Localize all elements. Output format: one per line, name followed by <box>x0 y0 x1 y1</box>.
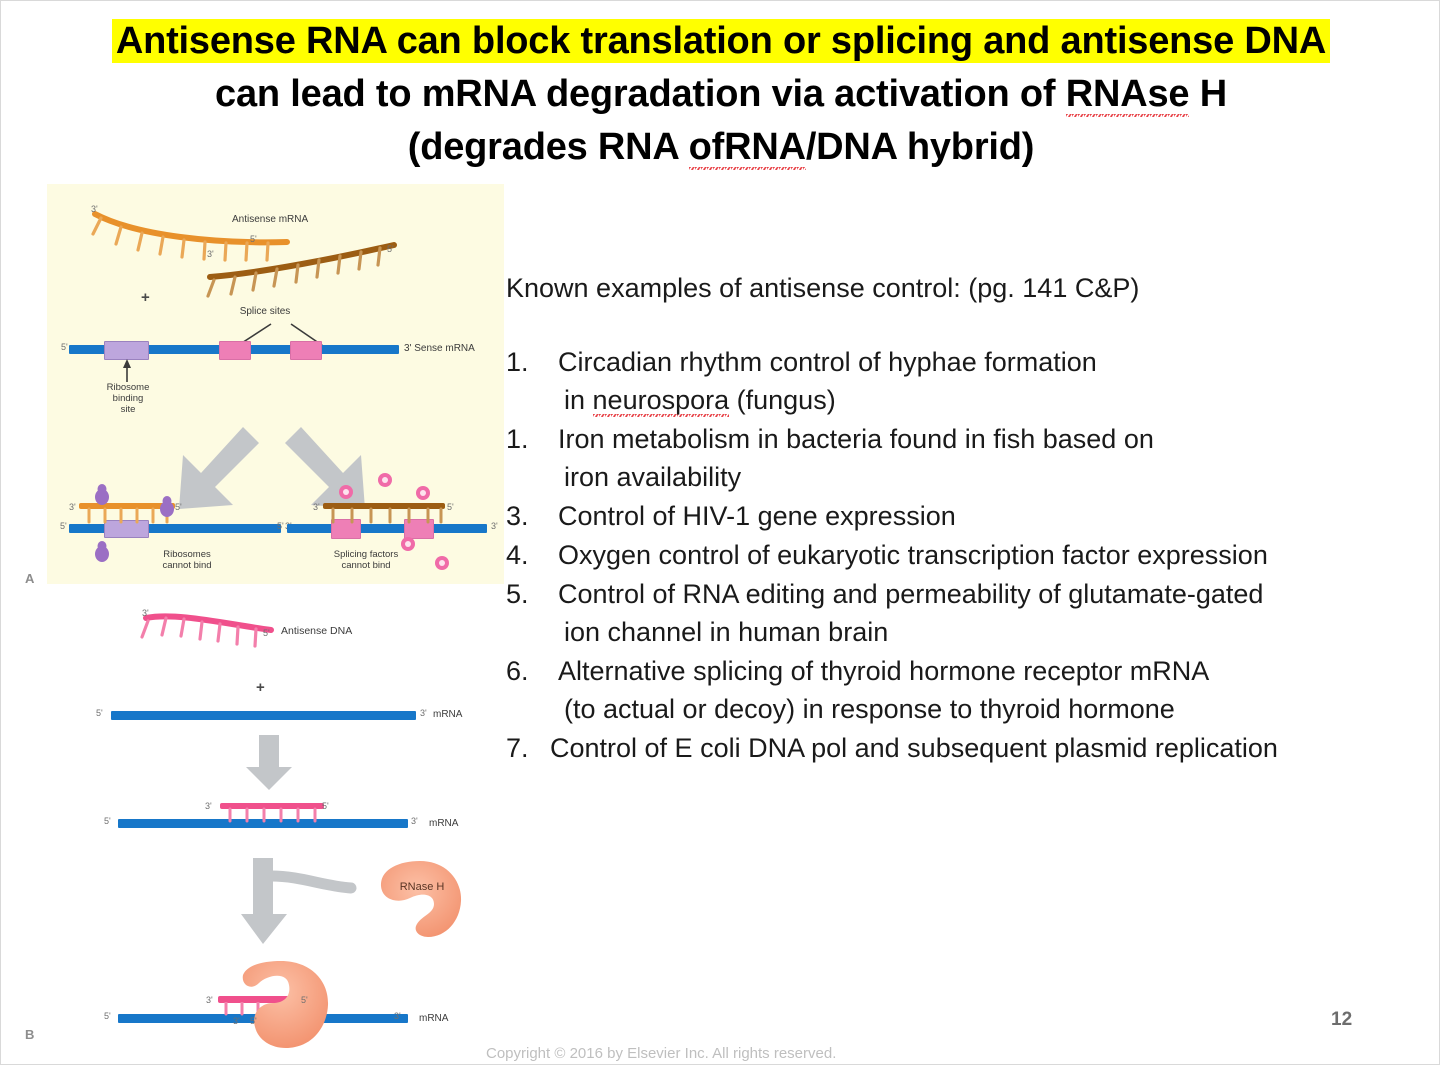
slide-canvas: Antisense RNA can block translation or s… <box>0 0 1440 1065</box>
page-number: 12 <box>1331 1009 1352 1031</box>
outcome-right-mrna-5prime: 5' <box>277 521 284 531</box>
svg-text:RNase H: RNase H <box>400 881 445 893</box>
list-item-number: 6. <box>506 652 558 690</box>
down-arrow-icon <box>244 733 294 793</box>
list-item-text: Alternative splicing of thyroid hormone … <box>558 652 1440 728</box>
list-item-number: 7. <box>506 729 550 767</box>
sense-mrna-label: 3' Sense mRNA <box>404 343 475 354</box>
list-item: 1. Iron metabolism in bacteria found in … <box>506 420 1440 496</box>
list-item-text: Iron metabolism in bacteria found in fis… <box>558 420 1440 496</box>
outcome-left-3prime: 3' <box>69 502 76 512</box>
title-line-2-part-a: can lead to mRNA degradation via activat… <box>215 73 1066 115</box>
final-cut-5prime: 5' <box>250 1016 257 1026</box>
list-item-number: 3. <box>506 497 558 535</box>
outcome-right-5prime: 5' <box>447 502 454 512</box>
panel-b-mrna2-3prime: 3' <box>411 816 418 826</box>
ribosome-binding-site-label: Ribosome binding site <box>92 382 164 415</box>
antisense-dna-5prime: 5' <box>263 628 270 638</box>
list-item-line-1: Control of E coli DNA pol and subsequent… <box>550 733 1278 763</box>
hybrid-5prime: 5' <box>322 801 329 811</box>
list-item-line-1: Control of RNA editing and permeability … <box>558 579 1263 609</box>
plus-sign-a: + <box>141 289 150 306</box>
list-item-number: 5. <box>506 575 558 613</box>
line2-pre: in <box>564 385 593 415</box>
list-item: 7. Control of E coli DNA pol and subsequ… <box>506 729 1440 767</box>
list-item-line-2: ion channel in human brain <box>558 613 1440 651</box>
splicing-factor-icon <box>377 472 393 488</box>
list-item-text: Control of RNA editing and permeability … <box>558 575 1440 651</box>
splicing-factor-icon <box>434 555 450 571</box>
antisense-mrna-label: Antisense mRNA <box>232 214 308 225</box>
list-item-line-1: Control of HIV-1 gene expression <box>558 501 956 531</box>
strand2-5prime-label: 5' <box>387 244 394 254</box>
final-mrna-label: mRNA <box>419 1013 448 1024</box>
antisense-dna-3prime: 3' <box>142 608 149 618</box>
list-item-number: 1. <box>506 343 558 381</box>
list-item: 6. Alternative splicing of thyroid hormo… <box>506 652 1440 728</box>
strand2-3prime-label: 3' <box>207 249 214 259</box>
ribosomes-cannot-bind-label: Ribosomes cannot bind <box>137 549 237 571</box>
panel-b-mrna2-5prime: 5' <box>104 816 111 826</box>
list-item-line-2: iron availability <box>558 458 1440 496</box>
rbs-pointer-icon <box>117 356 137 384</box>
figure-panel-a: 3' 5' Antisense mRNA 3' 5' + Splice site… <box>47 184 504 584</box>
panel-b-mrna1-3prime: 3' <box>420 708 427 718</box>
antisense-dna-label: Antisense DNA <box>281 626 352 637</box>
outcome-left-mrna-5prime: 5' <box>60 521 67 531</box>
final-5prime: 5' <box>301 995 308 1005</box>
ribosome-icon <box>93 541 111 563</box>
list-item: 5. Control of RNA editing and permeabili… <box>506 575 1440 651</box>
rnase-h-enzyme-icon: RNase H <box>376 858 466 943</box>
list-item: 4. Oxygen control of eukaryotic transcri… <box>506 536 1440 574</box>
panel-b-mrna1-label: mRNA <box>433 709 462 720</box>
list-item-text: Control of E coli DNA pol and subsequent… <box>550 729 1440 767</box>
plus-sign-b: + <box>256 679 265 696</box>
title-line-3-spellcheck: ofRNA <box>689 126 806 170</box>
outcome-left-5prime: 5' <box>175 502 182 512</box>
line2-post: (fungus) <box>729 385 836 415</box>
bound-antisense-dna-icon <box>218 801 338 827</box>
splicing-factor-icon <box>415 485 431 501</box>
list-item-text: Oxygen control of eukaryotic transcripti… <box>558 536 1440 574</box>
line2-spellcheck: neurospora <box>593 385 730 417</box>
mrna-5prime-label: 5' <box>61 342 68 352</box>
rnase-h-bound-icon <box>233 959 343 1059</box>
list-item-number: 1. <box>506 420 558 458</box>
outcome-right-3prime: 3' <box>313 502 320 512</box>
splice-site-box-2 <box>290 341 322 360</box>
hybrid-3prime: 3' <box>205 801 212 811</box>
splicing-factor-icon <box>338 484 354 500</box>
list-item-line-1: Iron metabolism in bacteria found in fis… <box>558 424 1154 454</box>
panel-b-mrna-1 <box>111 711 416 720</box>
title-line-3-part-a: (degrades RNA <box>408 126 689 168</box>
bound-antisense-brown-icon <box>321 500 461 528</box>
panel-b-letter: B <box>25 1027 34 1042</box>
strand-3prime-label: 3' <box>91 204 98 214</box>
down-arrow-with-hook-icon <box>241 856 361 956</box>
title-line-2-part-c: H <box>1189 73 1227 115</box>
title-line-3-part-c: /DNA hybrid) <box>806 126 1034 168</box>
title-line-3: (degrades RNA ofRNA/DNA hybrid) <box>1 121 1440 174</box>
final-3prime: 3' <box>206 995 213 1005</box>
page-title: Antisense RNA can block translation or s… <box>1 15 1440 174</box>
antisense-examples-list: 1. Circadian rhythm control of hyphae fo… <box>506 343 1440 767</box>
ribosome-icon <box>93 484 111 506</box>
splice-sites-label: Splice sites <box>210 306 320 317</box>
copyright-text: Copyright © 2016 by Elsevier Inc. All ri… <box>486 1045 836 1062</box>
panel-b-mrna2-label: mRNA <box>429 818 458 829</box>
final-mrna-5prime: 5' <box>104 1011 111 1021</box>
outcome-right-mrna-3prime: 3' <box>491 521 498 531</box>
title-line-2: can lead to mRNA degradation via activat… <box>1 68 1440 121</box>
final-cut-3prime: 3' <box>233 1016 240 1026</box>
splice-site-box-1 <box>219 341 251 360</box>
list-item-line-1: Alternative splicing of thyroid hormone … <box>558 656 1209 686</box>
panel-a-letter: A <box>25 571 34 586</box>
list-item-number: 4. <box>506 536 558 574</box>
title-highlight: Antisense RNA can block translation or s… <box>112 19 1330 63</box>
splicing-factors-cannot-bind-label: Splicing factors cannot bind <box>311 549 421 571</box>
list-item-line-2: (to actual or decoy) in response to thyr… <box>558 690 1440 728</box>
panel-b-mrna1-5prime: 5' <box>96 708 103 718</box>
list-item-text: Circadian rhythm control of hyphae forma… <box>558 343 1440 419</box>
final-mrna-3prime: 3' <box>394 1011 401 1021</box>
list-item: 1. Circadian rhythm control of hyphae fo… <box>506 343 1440 419</box>
list-item-text: Control of HIV-1 gene expression <box>558 497 1440 535</box>
title-line-1: Antisense RNA can block translation or s… <box>1 15 1440 68</box>
list-item-line-1: Oxygen control of eukaryotic transcripti… <box>558 540 1268 570</box>
intro-text: Known examples of antisense control: (pg… <box>506 269 1440 307</box>
list-item: 3. Control of HIV-1 gene expression <box>506 497 1440 535</box>
content-column: Known examples of antisense control: (pg… <box>506 269 1440 768</box>
list-item-line-1: Circadian rhythm control of hyphae forma… <box>558 347 1097 377</box>
ribosome-icon <box>158 496 176 518</box>
list-item-line-2: in neurospora (fungus) <box>558 381 1440 419</box>
title-line-2-spellcheck: RNAse <box>1066 73 1190 117</box>
